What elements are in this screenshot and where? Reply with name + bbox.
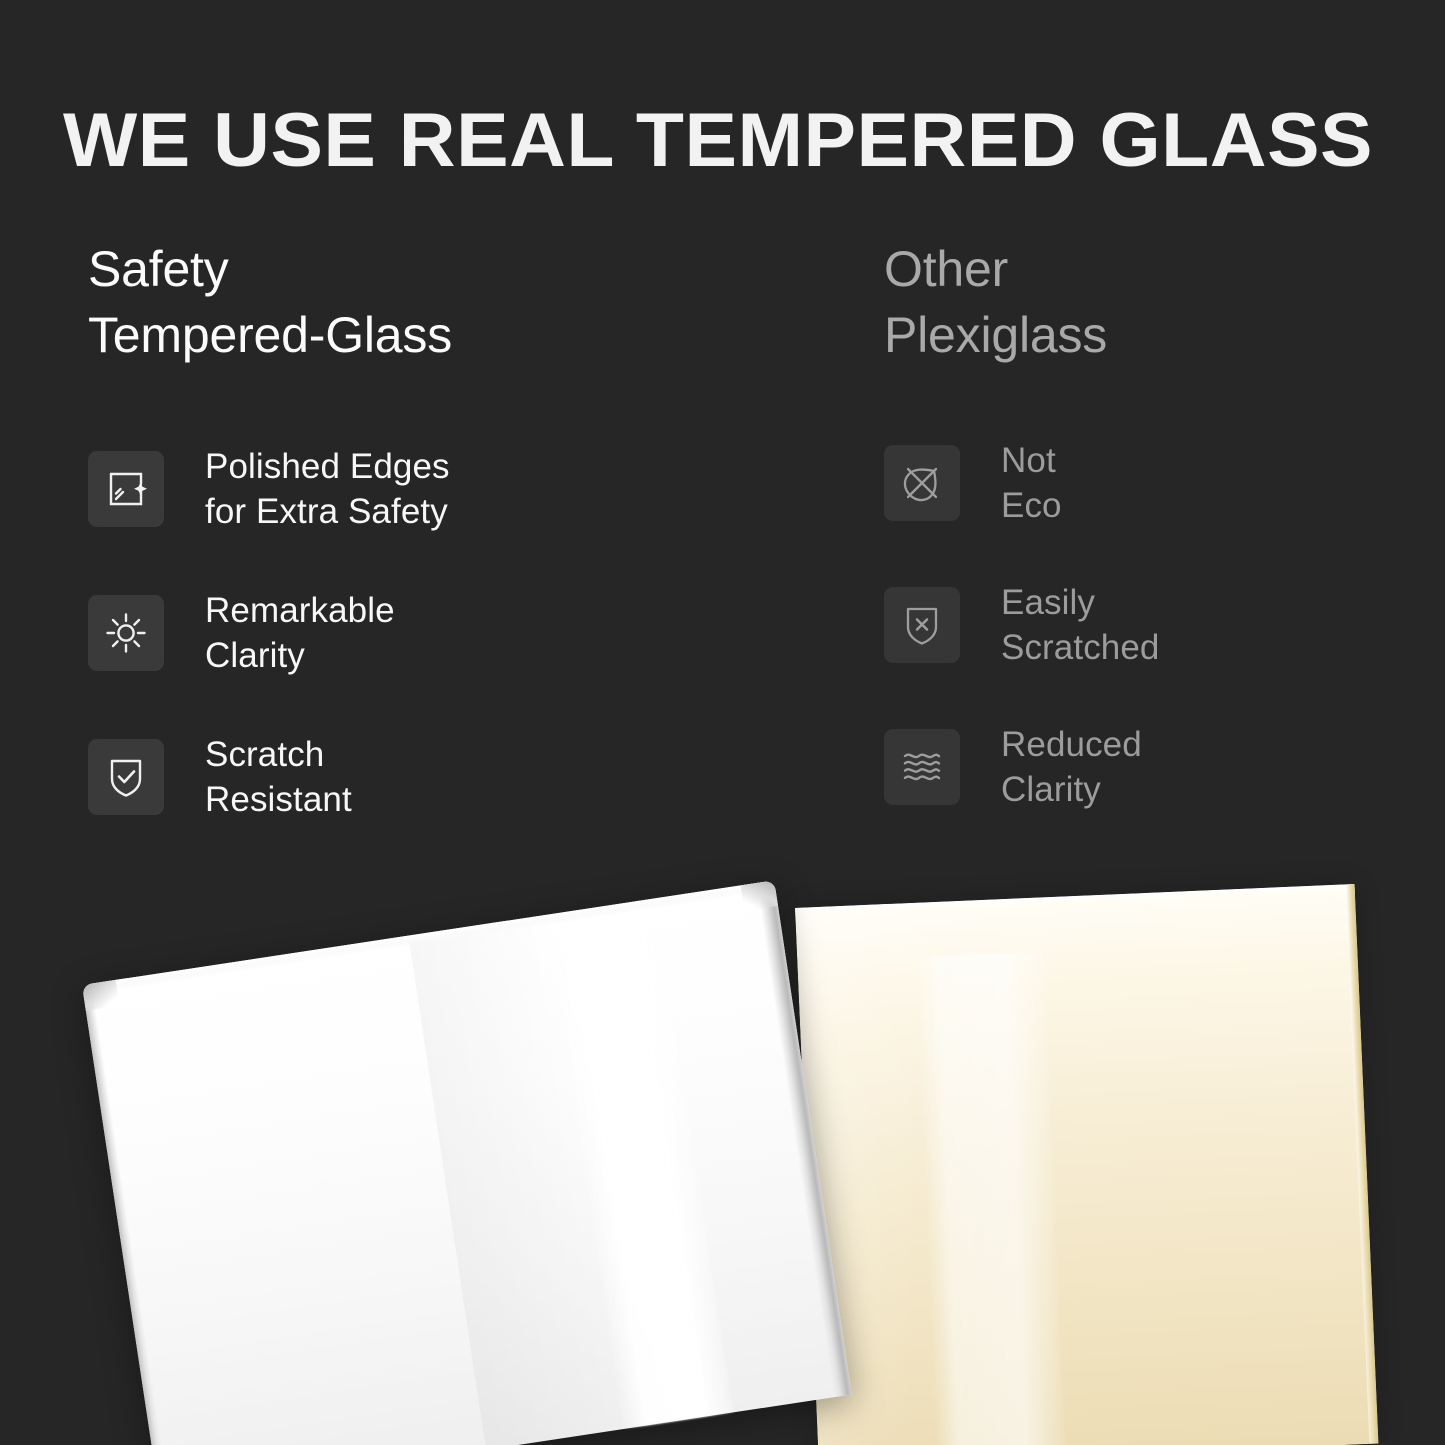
- feature-label-not-eco: Not Eco: [1001, 438, 1062, 528]
- feature-list-tempered-glass: Polished Edges for Extra Safety: [88, 440, 808, 872]
- plexiglass-top-edge: [795, 884, 1355, 921]
- feature-row-not-eco: Not Eco: [884, 434, 1404, 532]
- feature-row-scratch-resistant: Scratch Resistant: [88, 728, 808, 826]
- feature-label-easily-scratched: Easily Scratched: [1001, 580, 1160, 670]
- feature-row-remarkable-clarity: Remarkable Clarity: [88, 584, 808, 682]
- column-title-plexiglass: Other Plexiglass: [884, 236, 1404, 368]
- plexiglass-right-edge: [1345, 884, 1378, 1444]
- feature-row-easily-scratched: Easily Scratched: [884, 576, 1404, 674]
- tempered-glass-panel: [82, 880, 852, 1445]
- feature-label-scratch-resistant: Scratch Resistant: [205, 732, 352, 822]
- wavy-lines-icon: [884, 729, 960, 805]
- feature-label-reduced-clarity: Reduced Clarity: [1001, 722, 1142, 812]
- plexiglass-reflection: [915, 951, 1065, 1445]
- sun-clarity-icon: [88, 595, 164, 671]
- feature-list-plexiglass: Not Eco Easily Scratched: [884, 434, 1404, 860]
- leaf-crossed-out-icon: [884, 445, 960, 521]
- tempered-glass-top-right-corner: [741, 880, 779, 911]
- feature-label-polished-edges: Polished Edges for Extra Safety: [205, 444, 450, 534]
- shield-check-icon: [88, 739, 164, 815]
- comparison-column-plexiglass: Other Plexiglass Not Eco: [884, 236, 1404, 368]
- feature-row-reduced-clarity: Reduced Clarity: [884, 718, 1404, 816]
- plexiglass-panel: [795, 884, 1378, 1445]
- polished-glass-edge-icon: [88, 451, 164, 527]
- product-photo: [0, 820, 1445, 1445]
- feature-label-remarkable-clarity: Remarkable Clarity: [205, 588, 395, 678]
- promo-banner: WE USE REAL TEMPERED GLASS Safety Temper…: [0, 0, 1445, 1445]
- feature-row-polished-edges: Polished Edges for Extra Safety: [88, 440, 808, 538]
- tempered-glass-left-bevel: [82, 984, 170, 1445]
- page-title: WE USE REAL TEMPERED GLASS: [63, 95, 1445, 187]
- tempered-glass-top-left-corner: [82, 980, 120, 1011]
- shield-x-icon: [884, 587, 960, 663]
- comparison-column-tempered-glass: Safety Tempered-Glass Polished Edges for…: [88, 236, 808, 368]
- column-title-tempered-glass: Safety Tempered-Glass: [88, 236, 808, 368]
